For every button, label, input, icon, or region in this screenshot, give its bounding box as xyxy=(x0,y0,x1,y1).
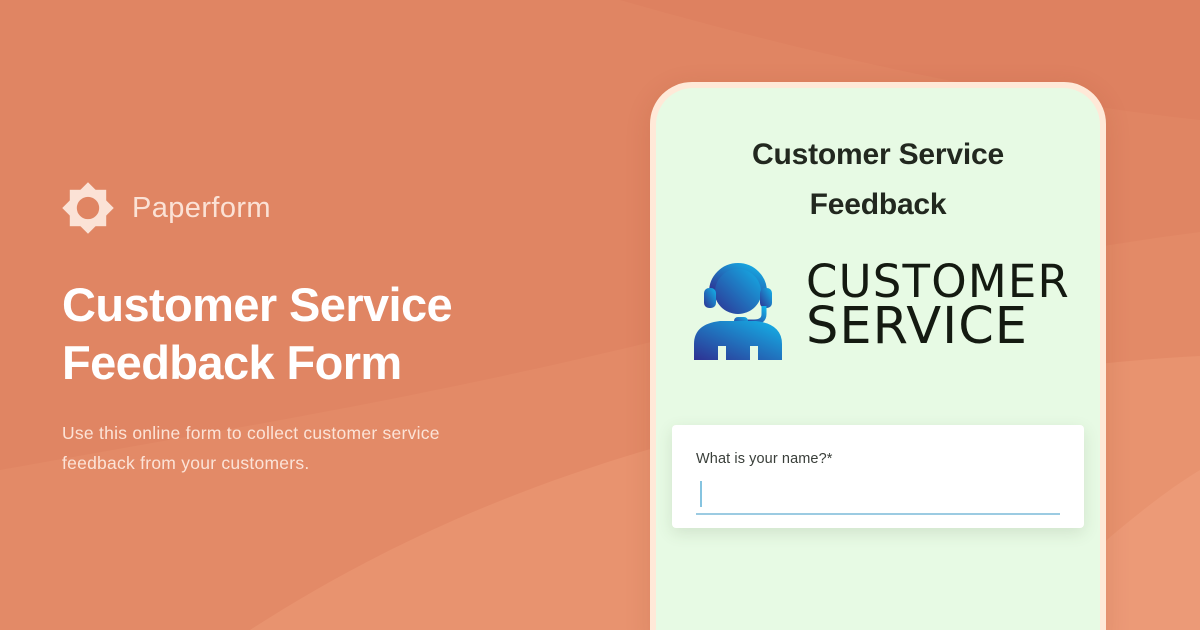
brand-lockup: Paperform xyxy=(62,180,592,236)
input-underline xyxy=(696,513,1060,515)
page-title-line-1: Customer Service xyxy=(62,276,592,334)
page-title: Customer Service Feedback Form xyxy=(62,276,592,392)
promo-panel: Paperform Customer Service Feedback Form… xyxy=(62,180,592,478)
wordmark-line-2: SERVICE xyxy=(806,303,1070,350)
page-subtitle-line-2: feedback from your customers. xyxy=(62,453,309,473)
form-card: Customer Service Feedback CUST xyxy=(656,88,1100,630)
name-input-wrapper[interactable] xyxy=(696,481,1060,515)
customer-service-logo: CUSTOMER SERVICE xyxy=(656,252,1100,360)
name-input[interactable] xyxy=(696,481,1060,515)
customer-service-wordmark: CUSTOMER SERVICE xyxy=(806,261,1070,350)
brand-name: Paperform xyxy=(132,192,271,225)
form-title-line-1: Customer Service xyxy=(702,130,1054,180)
headset-support-person-icon xyxy=(686,252,790,360)
question-card: What is your name?* xyxy=(672,425,1084,528)
page-subtitle-line-1: Use this online form to collect customer… xyxy=(62,423,440,443)
page-title-line-2: Feedback Form xyxy=(62,334,592,392)
form-title: Customer Service Feedback xyxy=(702,130,1054,230)
form-title-line-2: Feedback xyxy=(702,180,1054,230)
paperform-logo-icon xyxy=(62,182,114,234)
question-label: What is your name?* xyxy=(696,451,1060,467)
page-subtitle: Use this online form to collect customer… xyxy=(62,418,592,478)
